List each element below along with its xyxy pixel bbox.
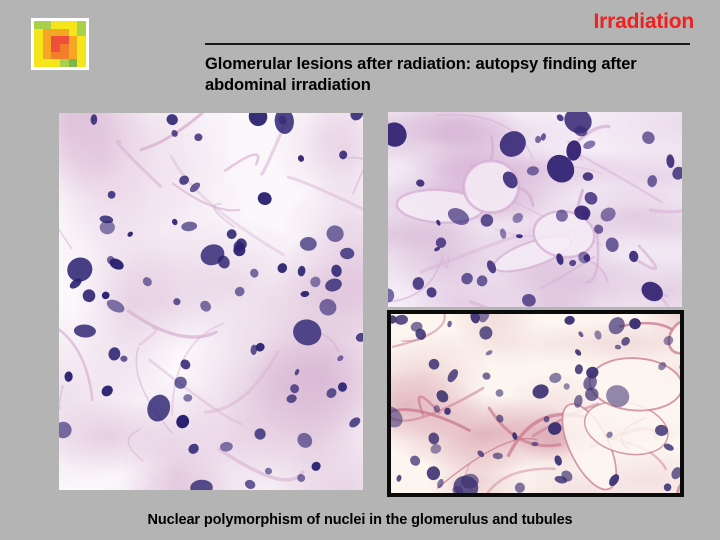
- nucleus: [582, 189, 600, 207]
- nucleus: [171, 218, 178, 226]
- nucleus: [482, 371, 492, 380]
- nucleus: [64, 371, 73, 382]
- slide-title: Glomerular lesions after radiation: auto…: [205, 54, 705, 96]
- nucleus: [499, 228, 507, 240]
- nucleus: [628, 317, 641, 330]
- nucleus: [105, 297, 127, 315]
- nucleus: [99, 383, 115, 398]
- nucleus: [553, 454, 563, 466]
- nucleus: [288, 383, 300, 395]
- logo-cell-22: [69, 44, 78, 52]
- nucleus: [308, 275, 322, 289]
- tubules-lower-field: [391, 314, 680, 493]
- nucleus: [297, 265, 306, 277]
- logo-cell-6: [34, 29, 43, 37]
- nucleus: [426, 466, 440, 481]
- nucleus: [574, 364, 583, 375]
- logo-cell-12: [34, 36, 43, 44]
- logo-cell-28: [69, 52, 78, 60]
- nucleus: [186, 442, 200, 456]
- logo-cell-24: [34, 52, 43, 60]
- nucleus: [429, 443, 443, 456]
- nucleus: [82, 289, 96, 303]
- nucleus: [338, 382, 347, 392]
- nucleus: [190, 479, 213, 490]
- logo-cell-16: [69, 36, 78, 44]
- nucleus: [555, 113, 565, 123]
- logo-cell-15: [60, 36, 69, 44]
- nucleus: [106, 190, 116, 200]
- nucleus: [173, 298, 180, 305]
- logo-cell-8: [51, 29, 60, 37]
- logo-cell-grid: [34, 21, 86, 67]
- nucleus: [244, 478, 257, 490]
- nucleus: [177, 174, 191, 187]
- nucleus: [348, 113, 363, 123]
- nucleus: [194, 133, 203, 142]
- nucleus: [527, 166, 539, 176]
- nucleus: [511, 211, 525, 225]
- nucleus: [666, 154, 675, 168]
- logo-cell-20: [51, 44, 60, 52]
- nucleus: [126, 231, 134, 238]
- nucleus: [290, 316, 324, 348]
- logo-cell-32: [51, 59, 60, 67]
- nucleus: [663, 483, 671, 492]
- nucleus: [521, 293, 537, 307]
- nucleus: [388, 118, 411, 152]
- nucleus: [647, 175, 658, 188]
- micrograph-tubules-upper: [388, 112, 682, 307]
- nucleus: [183, 394, 192, 402]
- nucleus: [317, 296, 340, 318]
- tissue-architecture: [388, 112, 682, 307]
- nucleus: [495, 389, 504, 398]
- logo-cell-31: [43, 59, 52, 67]
- nucleus: [493, 452, 504, 459]
- logo-cell-13: [43, 36, 52, 44]
- logo-cell-34: [69, 59, 78, 67]
- nucleus: [427, 357, 441, 371]
- nucleus: [640, 129, 658, 147]
- nucleus: [249, 267, 260, 278]
- nucleus: [225, 227, 239, 241]
- nucleus: [338, 150, 348, 160]
- logo-cell-17: [77, 36, 86, 44]
- nucleus: [534, 135, 541, 143]
- nucleus: [181, 221, 198, 232]
- micrograph-tubules-lower: [387, 310, 684, 497]
- nucleus: [670, 465, 680, 480]
- nucleus: [583, 172, 594, 181]
- logo-cell-25: [43, 52, 52, 60]
- nucleus: [174, 413, 192, 431]
- logo-cell-5: [77, 21, 86, 29]
- nucleus: [614, 344, 621, 350]
- logo-cell-23: [77, 44, 86, 52]
- nucleus: [408, 454, 422, 468]
- nucleus: [108, 347, 122, 362]
- nucleus: [495, 126, 532, 162]
- nucleus: [427, 431, 440, 445]
- nucleus: [391, 402, 407, 432]
- nucleus: [325, 223, 346, 244]
- nucleus: [198, 299, 213, 314]
- nucleus: [294, 430, 315, 451]
- logo-cell-33: [60, 59, 69, 67]
- logo-cell-1: [43, 21, 52, 29]
- nucleus: [435, 236, 448, 249]
- nucleus: [568, 259, 576, 267]
- logo-cell-19: [43, 44, 52, 52]
- glomerulus-field: [59, 113, 363, 490]
- nucleus: [324, 276, 344, 293]
- nucleus: [546, 420, 563, 437]
- nucleus: [256, 190, 273, 206]
- logo-cell-0: [34, 21, 43, 29]
- logo-cell-11: [77, 29, 86, 37]
- nucleus: [593, 329, 602, 340]
- nucleus: [324, 386, 338, 400]
- nucleus: [620, 335, 632, 347]
- slide-caption: Nuclear polymorphism of nuclei in the gl…: [0, 512, 720, 528]
- nucleus: [165, 113, 180, 127]
- nucleus: [285, 393, 297, 404]
- nucleus: [233, 285, 246, 298]
- nucleus: [144, 392, 173, 425]
- nucleus: [447, 320, 453, 327]
- nucleus: [577, 331, 584, 339]
- logo-cell-29: [77, 52, 86, 60]
- nucleus: [445, 367, 460, 384]
- logo-cell-35: [77, 59, 86, 67]
- nucleus: [300, 290, 309, 297]
- nucleus: [310, 460, 323, 473]
- nucleus: [120, 355, 128, 362]
- nucleus: [396, 474, 402, 482]
- tissue-architecture: [391, 314, 680, 493]
- nucleus: [90, 114, 97, 125]
- nucleus: [485, 349, 494, 356]
- logo-cell-27: [60, 52, 69, 60]
- nucleus: [415, 178, 425, 187]
- nucleus: [574, 348, 583, 357]
- nucleus: [300, 237, 317, 251]
- nucleus: [141, 275, 154, 288]
- logo-cell-2: [51, 21, 60, 29]
- logo-cell-14: [51, 36, 60, 44]
- logo-cell-4: [69, 21, 78, 29]
- nucleus: [531, 382, 551, 400]
- nucleus: [475, 274, 489, 288]
- tissue-architecture: [59, 113, 363, 490]
- nucleus: [470, 314, 481, 324]
- nucleus: [394, 314, 408, 325]
- nucleus: [63, 253, 97, 286]
- nucleus: [514, 482, 526, 493]
- nucleus: [347, 415, 362, 429]
- nucleus: [297, 154, 305, 163]
- tubules-upper-field: [388, 112, 682, 307]
- nucleus: [563, 383, 570, 390]
- nucleus: [276, 262, 289, 275]
- nucleus: [296, 472, 307, 483]
- logo-cell-18: [34, 44, 43, 52]
- nucleus: [100, 290, 111, 300]
- slide-kicker-irradiation: Irradiation: [594, 11, 694, 32]
- header-divider-rule: [205, 43, 690, 45]
- logo-cell-7: [43, 29, 52, 37]
- nucleus: [434, 388, 451, 405]
- nucleus: [479, 326, 493, 340]
- nucleus: [564, 315, 576, 326]
- nucleus: [330, 264, 343, 278]
- nucleus: [178, 357, 192, 371]
- nucleus: [254, 428, 266, 440]
- square-mosaic-logo: [31, 18, 89, 70]
- nucleus: [74, 324, 97, 338]
- logo-cell-10: [69, 29, 78, 37]
- nucleus: [598, 205, 618, 225]
- nucleus: [548, 371, 562, 384]
- nucleus: [540, 133, 547, 142]
- nucleus: [459, 270, 475, 286]
- logo-cell-30: [34, 59, 43, 67]
- logo-cell-3: [60, 21, 69, 29]
- logo-cell-26: [51, 52, 60, 60]
- nucleus: [246, 113, 270, 129]
- nucleus: [605, 314, 627, 337]
- nucleus: [388, 288, 394, 302]
- nucleus: [294, 368, 300, 376]
- micrograph-glomerulus: [59, 113, 363, 490]
- nucleus: [336, 354, 344, 362]
- nucleus: [495, 413, 505, 423]
- nucleus: [355, 332, 363, 344]
- nucleus: [604, 236, 620, 253]
- presentation-slide: Irradiation Glomerular lesions after rad…: [0, 0, 720, 540]
- logo-cell-9: [60, 29, 69, 37]
- nucleus: [425, 285, 439, 299]
- nucleus: [582, 139, 597, 151]
- nucleus: [340, 247, 355, 259]
- nucleus: [59, 421, 72, 438]
- logo-cell-21: [60, 44, 69, 52]
